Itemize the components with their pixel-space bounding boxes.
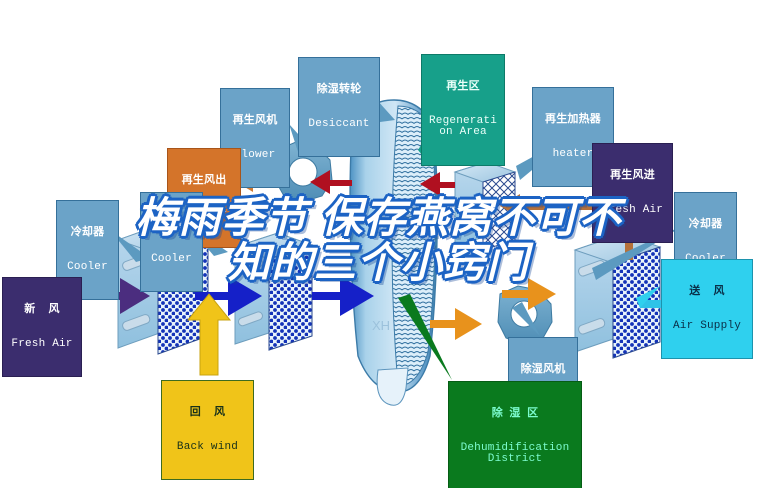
label-regen-area: 再生区 Regenerati on Area xyxy=(421,54,505,166)
label-air-supply: 送 风 Air Supply xyxy=(661,259,753,359)
label-cooler-left-2: 冷却器 Cooler xyxy=(140,192,203,292)
label-fresh-air-inlet: 新 风 Fresh Air xyxy=(2,277,82,377)
label-desiccant-wheel: 除湿转轮 Desiccant xyxy=(298,57,380,157)
label-regen-fresh-air: 再生风进 Fresh Air xyxy=(592,143,673,243)
label-dehum-district: 除 湿 区 Dehumidification District xyxy=(448,381,582,488)
arrow-dry-1 xyxy=(430,308,482,340)
svg-text:XH: XH xyxy=(372,318,390,333)
diagram-canvas: XH xyxy=(0,0,757,488)
drain-pan xyxy=(377,368,408,405)
label-back-wind: 回 风 Back wind xyxy=(161,380,254,480)
